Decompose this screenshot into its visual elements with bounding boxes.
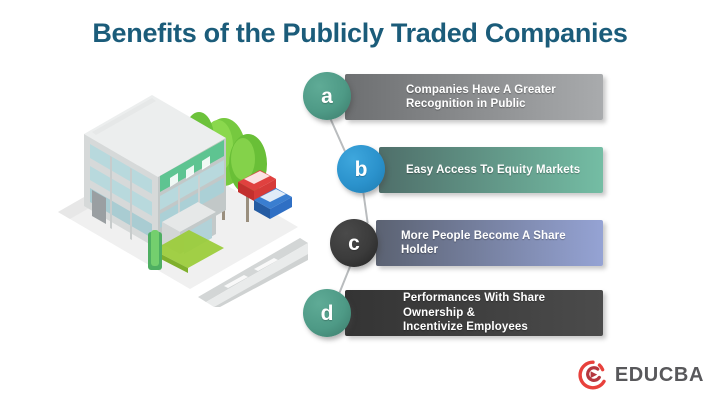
benefit-row-c: More People Become A Share Holder c [330,220,603,266]
benefit-circle-b[interactable]: b [337,145,385,193]
educba-mark-icon [578,360,608,390]
benefit-row-a: Companies Have A Greater Recognition in … [303,74,603,120]
benefit-label-c-line2: Holder [401,243,566,258]
benefit-label-a-line1: Companies Have A Greater [406,83,556,98]
benefit-label-a: Companies Have A Greater Recognition in … [406,83,556,112]
benefit-label-b: Easy Access To Equity Markets [406,163,580,178]
benefit-label-d-line1: Performances With Share Ownership & [403,291,603,320]
educba-logo[interactable]: EDUCBA [578,360,704,390]
benefit-label-b-line1: Easy Access To Equity Markets [406,163,580,178]
benefit-label-d-line2: Incentivize Employees [403,320,603,335]
benefit-row-d: Performances With Share Ownership & Ince… [303,290,603,336]
benefit-bar-c[interactable]: More People Become A Share Holder [376,220,603,266]
benefit-label-d: Performances With Share Ownership & Ince… [403,291,603,335]
educba-logo-text: EDUCBA [615,364,704,387]
benefit-circle-b-letter: b [355,159,368,180]
benefit-bar-b[interactable]: Easy Access To Equity Markets [379,147,603,193]
benefit-label-c-line1: More People Become A Share [401,229,566,244]
connector-b-c [362,190,369,224]
infographic-canvas: Benefits of the Publicly Traded Companie… [0,0,720,404]
benefit-circle-a[interactable]: a [303,72,351,120]
benefit-circle-c[interactable]: c [330,219,378,267]
benefit-circle-a-letter: a [321,86,333,107]
benefit-circle-d-letter: d [321,303,334,324]
benefit-bar-a[interactable]: Companies Have A Greater Recognition in … [345,74,603,120]
isometric-office-building-illustration [48,72,308,307]
benefit-circle-c-letter: c [348,233,360,254]
benefit-bar-d[interactable]: Performances With Share Ownership & Ince… [345,290,603,336]
benefit-label-c: More People Become A Share Holder [401,229,566,258]
page-title: Benefits of the Publicly Traded Companie… [0,18,720,49]
benefit-label-a-line2: Recognition in Public [406,97,556,112]
benefit-row-b: Easy Access To Equity Markets b [337,147,603,193]
benefit-circle-d[interactable]: d [303,289,351,337]
